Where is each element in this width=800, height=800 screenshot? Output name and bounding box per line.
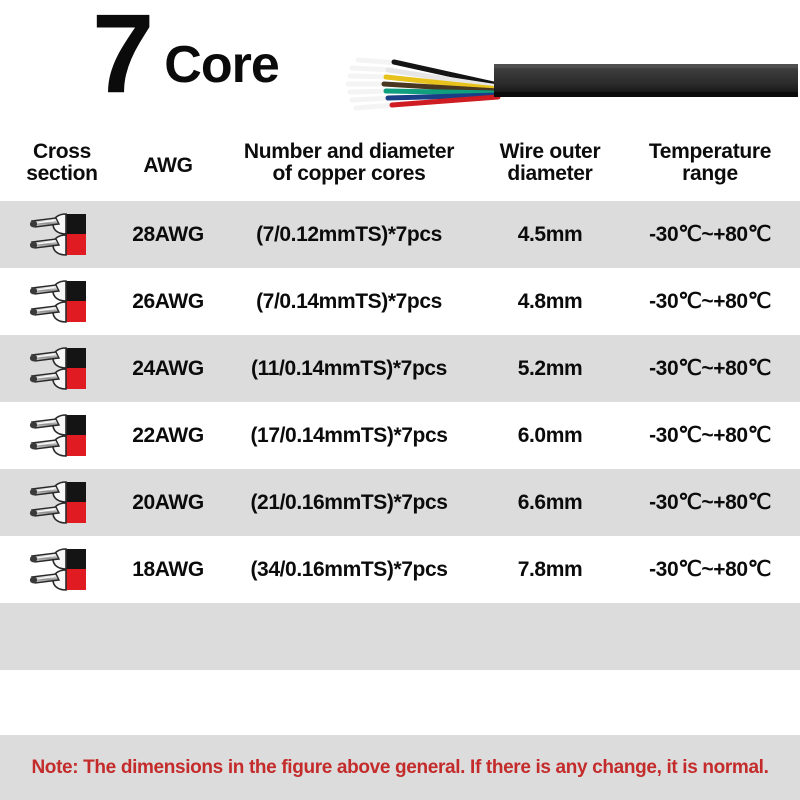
cell-awg: 20AWG — [118, 491, 218, 515]
footer-note-text: Note: The dimensions in the figure above… — [31, 757, 768, 779]
table-row: 20AWG(21/0.16mmTS)*7pcs6.6mm-30℃~+80℃ — [0, 469, 800, 536]
cell-cores: (17/0.14mmTS)*7pcs — [218, 424, 480, 448]
cell-outer-diameter: 5.2mm — [480, 357, 620, 381]
cable-cross-section-icon — [0, 344, 118, 394]
table-filler-row — [0, 670, 800, 737]
cell-outer-diameter: 4.8mm — [480, 290, 620, 314]
cell-awg: 28AWG — [118, 223, 218, 247]
column-header-awg: AWG — [118, 141, 218, 177]
cell-temperature: -30℃~+80℃ — [620, 356, 800, 381]
cell-cores: (7/0.12mmTS)*7pcs — [218, 223, 480, 247]
cell-cores: (21/0.16mmTS)*7pcs — [218, 491, 480, 515]
cell-temperature: -30℃~+80℃ — [620, 490, 800, 515]
cell-cores: (7/0.14mmTS)*7pcs — [218, 290, 480, 314]
header: 7 Core — [0, 0, 800, 135]
table-row: 26AWG(7/0.14mmTS)*7pcs4.8mm-30℃~+80℃ — [0, 268, 800, 335]
cable-cross-section-icon — [0, 210, 118, 260]
cell-temperature: -30℃~+80℃ — [620, 222, 800, 247]
product-spec-sheet: Delight-Fire Delight-Fire Delight-Fire D… — [0, 0, 800, 800]
cable-cross-section-icon — [0, 411, 118, 461]
table-filler-row — [0, 603, 800, 670]
cell-cores: (11/0.14mmTS)*7pcs — [218, 357, 480, 381]
cell-awg: 18AWG — [118, 558, 218, 582]
column-header-outer-diameter: Wire outer diameter — [480, 141, 620, 186]
cell-awg: 22AWG — [118, 424, 218, 448]
cell-outer-diameter: 7.8mm — [480, 558, 620, 582]
page-title: 7 Core — [92, 2, 279, 105]
column-header-cores: Number and diameter of copper cores — [218, 141, 480, 186]
cable-cross-section-icon — [0, 277, 118, 327]
cell-temperature: -30℃~+80℃ — [620, 289, 800, 314]
cell-awg: 26AWG — [118, 290, 218, 314]
table-header-row: Cross section AWG Number and diameter of… — [0, 135, 800, 201]
cell-outer-diameter: 6.6mm — [480, 491, 620, 515]
table-row: 18AWG(34/0.16mmTS)*7pcs7.8mm-30℃~+80℃ — [0, 536, 800, 603]
cell-outer-diameter: 6.0mm — [480, 424, 620, 448]
table-row: 24AWG(11/0.14mmTS)*7pcs5.2mm-30℃~+80℃ — [0, 335, 800, 402]
core-count-number: 7 — [92, 2, 150, 105]
cable-cross-section-icon — [0, 545, 118, 595]
seven-core-cable-illustration — [346, 46, 798, 116]
table-row: 22AWG(17/0.14mmTS)*7pcs6.0mm-30℃~+80℃ — [0, 402, 800, 469]
cell-temperature: -30℃~+80℃ — [620, 557, 800, 582]
cable-cross-section-icon — [0, 478, 118, 528]
cell-temperature: -30℃~+80℃ — [620, 423, 800, 448]
cell-awg: 24AWG — [118, 357, 218, 381]
cell-cores: (34/0.16mmTS)*7pcs — [218, 558, 480, 582]
footer-note-banner: Note: The dimensions in the figure above… — [0, 735, 800, 800]
column-header-temperature: Temperature range — [620, 141, 800, 186]
column-header-cross-section: Cross section — [0, 141, 118, 186]
table-row: 28AWG(7/0.12mmTS)*7pcs4.5mm-30℃~+80℃ — [0, 201, 800, 268]
core-label: Core — [164, 39, 278, 91]
table-body: 28AWG(7/0.12mmTS)*7pcs4.5mm-30℃~+80℃ 26A… — [0, 201, 800, 603]
specification-table: Cross section AWG Number and diameter of… — [0, 135, 800, 737]
cell-outer-diameter: 4.5mm — [480, 223, 620, 247]
